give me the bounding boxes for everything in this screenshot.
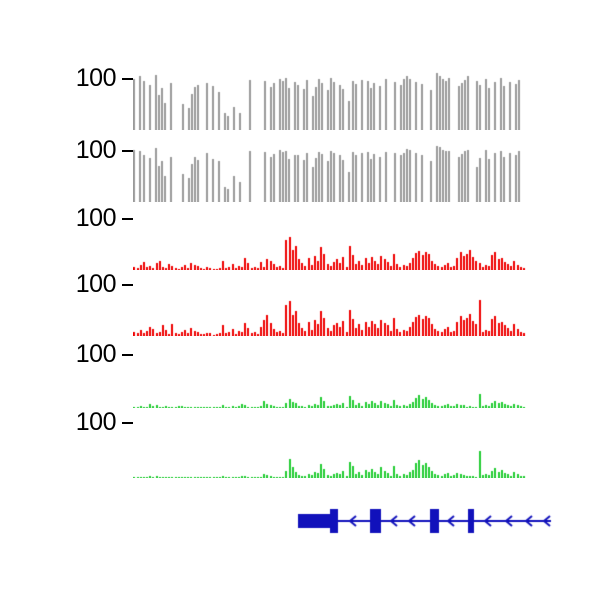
track-axis-label: 100	[58, 342, 116, 367]
track-plot-area	[133, 212, 551, 270]
track-axis-tick-icon	[122, 218, 133, 220]
coverage-track-gray-2: 100	[0, 138, 600, 202]
coverage-canvas	[133, 66, 551, 130]
track-plot-area	[133, 352, 551, 408]
coverage-track-red-2: 100	[0, 272, 600, 336]
track-plot-area	[133, 66, 551, 130]
coverage-canvas	[133, 352, 551, 408]
track-axis-tick-icon	[122, 354, 133, 356]
coverage-track-green-1: 100	[0, 342, 600, 408]
track-axis-label: 100	[58, 272, 116, 297]
track-axis-tick-icon	[122, 78, 133, 80]
coverage-track-green-2: 100	[0, 410, 600, 478]
coverage-canvas	[133, 212, 551, 270]
track-axis-label: 100	[58, 66, 116, 91]
track-axis-tick-icon	[122, 284, 133, 286]
track-plot-area	[133, 420, 551, 478]
gene-model-canvas	[0, 495, 600, 550]
coverage-canvas	[133, 420, 551, 478]
coverage-canvas	[133, 278, 551, 336]
track-axis-tick-icon	[122, 150, 133, 152]
coverage-canvas	[133, 138, 551, 202]
genome-browser-figure: 100 100 100 100 100	[0, 0, 600, 600]
track-axis-tick-icon	[122, 422, 133, 424]
track-plot-area	[133, 278, 551, 336]
track-axis-label: 100	[58, 206, 116, 231]
track-axis-label: 100	[58, 410, 116, 435]
track-axis-label: 100	[58, 138, 116, 163]
coverage-track-red-1: 100	[0, 206, 600, 270]
coverage-track-gray-1: 100	[0, 66, 600, 130]
gene-model-track[interactable]	[0, 495, 600, 550]
track-plot-area	[133, 138, 551, 202]
